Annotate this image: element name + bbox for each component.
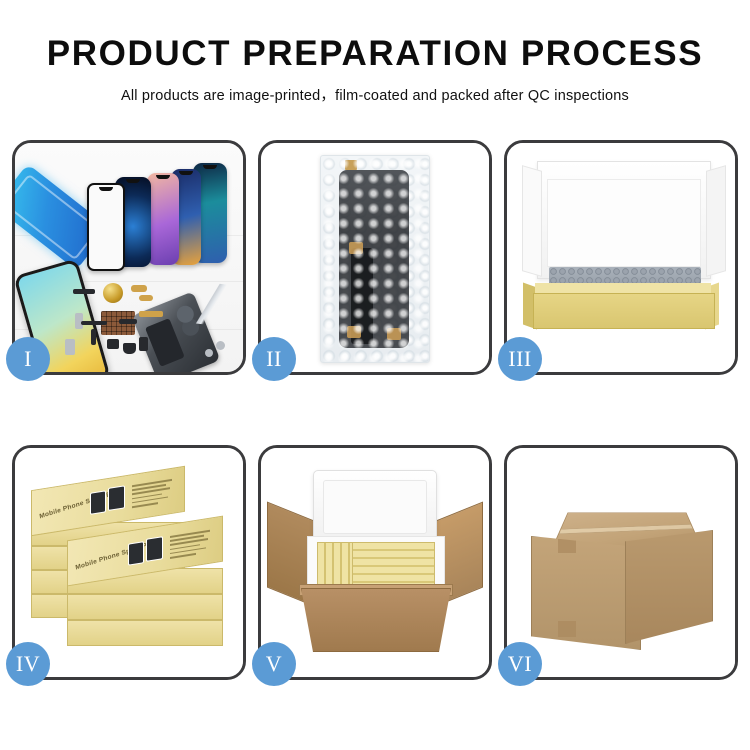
foam-sheet: [547, 179, 701, 267]
process-step-5: V: [258, 445, 492, 680]
connector-3: [387, 328, 401, 340]
step-badge-4: IV: [6, 642, 50, 686]
process-step-3: III: [504, 140, 738, 375]
carton-side-face: [625, 530, 713, 644]
bag-seal-tab: [345, 160, 357, 170]
step-badge-5: V: [252, 642, 296, 686]
step-badge-1: I: [6, 337, 50, 381]
vibration-coil-icon: [103, 283, 123, 303]
step-6-image: [507, 448, 735, 677]
carton-body: [301, 588, 451, 652]
page-root: PRODUCT PREPARATION PROCESS All products…: [0, 0, 750, 750]
process-step-grid: I II: [12, 140, 738, 680]
step-badge-3: III: [498, 337, 542, 381]
phone-screen-1: [87, 183, 125, 271]
process-step-2: II: [258, 140, 492, 375]
step-5-image: [261, 448, 489, 677]
page-title: PRODUCT PREPARATION PROCESS: [0, 36, 750, 73]
box-front-panel: [533, 293, 715, 329]
foam-lid: [313, 470, 437, 544]
step-4-image: Mobile Phone Spare Parts Mobile Phone Sp…: [15, 448, 243, 677]
process-step-1: I: [12, 140, 246, 375]
sealed-carton-icon: [527, 472, 717, 656]
wrapped-screen: [339, 170, 409, 348]
packing-tape: [559, 524, 692, 534]
process-step-6: VI: [504, 445, 738, 680]
tweezers-icon: [183, 280, 239, 327]
phone-screen-3: [147, 173, 179, 265]
page-subtitle: All products are image-printed，film-coat…: [0, 84, 750, 105]
box-stack: Mobile Phone Spare Parts Mobile Phone Sp…: [31, 470, 231, 660]
step-1-image: [15, 143, 243, 372]
bubble-wrap-bag-icon: [320, 155, 430, 363]
packed-boxes-side: [317, 542, 353, 588]
connector-1: [349, 242, 363, 254]
step-2-image: [261, 143, 489, 372]
step-3-image: [507, 143, 735, 372]
header: PRODUCT PREPARATION PROCESS All products…: [0, 0, 750, 105]
connector-2: [347, 326, 361, 338]
step-badge-6: VI: [498, 642, 542, 686]
step-badge-2: II: [252, 337, 296, 381]
carton-front-face: [531, 536, 641, 650]
process-step-4: Mobile Phone Spare Parts Mobile Phone Sp…: [12, 445, 246, 680]
